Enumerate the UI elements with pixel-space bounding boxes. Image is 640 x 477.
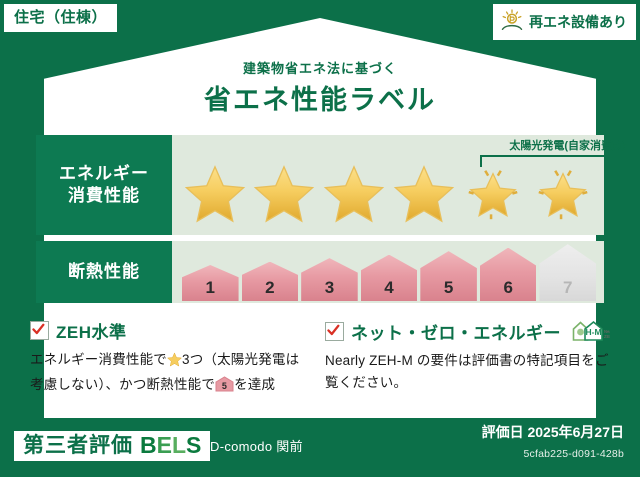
evaluation-date: 評価日 2025年6月27日 [482,422,624,442]
svg-text:ZEH-M: ZEH-M [604,334,610,339]
star-filled [393,163,455,225]
building-type-tag: 住宅（住棟） [4,4,117,32]
bels-logo-text: BELS [140,434,201,457]
star-solar [462,163,524,225]
insulation-level-chip-inactive: 7 [539,244,596,301]
solar-sun-icon [500,9,524,35]
note-text-part1: エネルギー消費性能で [30,352,167,367]
insulation-performance-row: 断熱性能 1 2 3 4 5 6 7 [36,241,604,303]
note-header: ネット・ゼロ・エネルギー H-M Nearly ZEH-M [325,318,610,344]
label-title: 省エネ性能ラベル [0,78,640,117]
zeh-m-logo: H-M Nearly ZEH-M [570,318,610,344]
building-name: D-comodo 関前 [210,436,303,455]
star-filled [184,163,246,225]
note-title: ネット・ゼロ・エネルギー [351,319,561,344]
bels-certification-mark: 第三者評価 BELS [14,431,210,461]
solar-bracket-caption: 太陽光発電(自家消費)分 [464,137,640,153]
insulation-level-chip: 2 [242,262,299,301]
renewable-badge-label: 再エネ設備あり [529,15,627,29]
star-filled [253,163,315,225]
star-rating [180,157,598,231]
insulation-level-chip: 6 [480,248,537,301]
insulation-row-key: 断熱性能 [36,241,172,303]
notes-section: ZEH水準 エネルギー消費性能で 3つ（太陽光発電は考慮しない）、かつ断熱性能で… [30,318,610,399]
bels-letter-s: S [186,434,201,457]
energy-performance-label: 住宅（住棟） 再エネ設備あり 建築物省エネ法に基づく 省エネ性能ラベル [0,0,640,477]
inline-star-icon [167,352,182,374]
chip-number: 3 [325,279,334,299]
chip-number: 2 [265,279,274,299]
chip-number: 5 [444,279,453,299]
building-type-text: 住宅（住棟） [14,9,107,26]
star-filled [323,163,385,225]
energy-row-value: 太陽光発電(自家消費)分 [172,135,604,235]
chip-number: 6 [503,279,512,299]
note-header: ZEH水準 [30,318,307,343]
insulation-key-label: 断熱性能 [68,261,140,283]
svg-text:5: 5 [222,381,227,391]
energy-row-key: エネルギー 消費性能 [36,135,172,235]
bels-letter-l: L [172,434,186,457]
energy-performance-row: エネルギー 消費性能 太陽光発電(自家消費)分 [36,135,604,235]
insulation-level-scale: 1 2 3 4 5 6 7 [182,243,596,301]
inline-level-chip-icon: 5 [215,376,234,399]
svg-text:H-M: H-M [585,327,601,337]
renewable-equipment-badge: 再エネ設備あり [493,4,636,40]
insulation-level-chip: 4 [361,255,418,301]
chip-number: 7 [563,279,572,299]
bels-letter-e: E [157,434,172,457]
evaluation-id: 5cfab225-d091-428b [523,448,624,460]
insulation-level-chip: 3 [301,258,358,301]
note-zeh-standard: ZEH水準 エネルギー消費性能で 3つ（太陽光発電は考慮しない）、かつ断熱性能で… [30,318,307,399]
star-solar [532,163,594,225]
note-body: Nearly ZEH-M の要件は評価書の特記項目をご覧ください。 [325,350,610,394]
checkbox-checked [325,322,344,341]
bels-jp-label: 第三者評価 [23,435,133,456]
bels-letter-b: B [140,434,157,457]
insulation-row-value: 1 2 3 4 5 6 7 [172,241,604,303]
chip-number: 1 [206,279,215,299]
checkbox-checked [30,321,49,340]
energy-key-line1: エネルギー [59,163,149,185]
insulation-level-chip: 1 [182,265,239,301]
label-subtitle: 建築物省エネ法に基づく [0,58,640,77]
evaluation-date-label: 評価日 [482,424,524,440]
note-text-part3: を達成 [234,377,275,392]
note-net-zero-energy: ネット・ゼロ・エネルギー H-M Nearly ZEH-M Nearly ZEH… [325,318,610,399]
note-body: エネルギー消費性能で 3つ（太陽光発電は考慮しない）、かつ断熱性能で 5 を達成 [30,349,307,399]
insulation-level-chip: 5 [420,251,477,301]
chip-number: 4 [384,279,393,299]
evaluation-date-value: 2025年6月27日 [527,424,624,440]
note-title: ZEH水準 [56,318,127,343]
energy-key-line2: 消費性能 [59,185,149,207]
